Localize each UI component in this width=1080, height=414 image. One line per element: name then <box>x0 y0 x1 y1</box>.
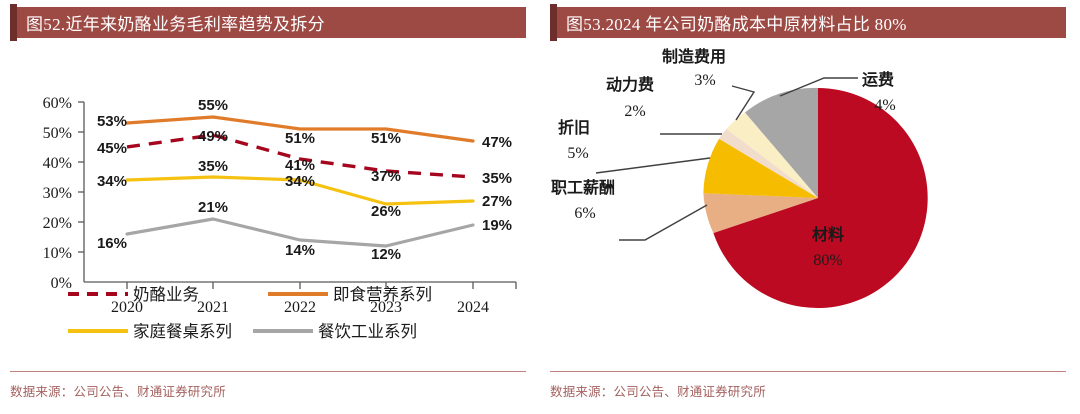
pie-label-freight-value: 4% <box>874 97 895 114</box>
left-source-note: 数据来源：公司公告、财通证券研究所 <box>10 381 526 400</box>
right-figure-panel: 图53.2024 年公司奶酪成本中原材料占比 80% <box>540 0 1080 414</box>
leader-line-employee-salary <box>619 205 707 240</box>
label-ready-2023: 51% <box>371 130 401 147</box>
x-tick-2022: 2022 <box>284 299 316 316</box>
line-chart-svg: 60% 50% 40% 30% 20% 10% 0% 2020 2021 202… <box>0 40 540 360</box>
label-ready-2020: 53% <box>97 113 127 130</box>
label-cheese-2021: 49% <box>198 128 228 145</box>
label-family-2022: 34% <box>285 173 315 190</box>
x-tick-2024: 2024 <box>457 299 489 316</box>
y-tick-40: 40% <box>43 155 72 172</box>
pie-chart-svg: 制造费用 3% 动力费 2% 折旧 5% 职工薪酬 6% 运费 4% 材料 80… <box>540 40 1080 360</box>
y-tick-20: 20% <box>43 215 72 232</box>
label-ready-2022: 51% <box>285 130 315 147</box>
cost-structure-pie-chart: 制造费用 3% 动力费 2% 折旧 5% 职工薪酬 6% 运费 4% 材料 80… <box>540 40 1080 360</box>
left-footer-divider <box>10 371 526 372</box>
right-panel-title: 图53.2024 年公司奶酪成本中原材料占比 80% <box>566 10 907 35</box>
x-tick-2021: 2021 <box>197 299 229 316</box>
label-family-2021: 35% <box>198 158 228 175</box>
pie-label-depreciation-name: 折旧 <box>558 118 590 137</box>
pie-label-power-cost-value: 2% <box>624 103 645 120</box>
label-catering-2023: 12% <box>371 246 401 263</box>
left-figure-panel: 图52.近年来奶酪业务毛利率趋势及拆分 <box>0 0 540 414</box>
pie-label-employee-salary-name: 职工薪酬 <box>551 179 615 197</box>
legend-label-cheese-business[interactable]: 奶酪业务 <box>133 285 199 304</box>
gross-margin-line-chart: 60% 50% 40% 30% 20% 10% 0% 2020 2021 202… <box>0 40 540 360</box>
y-tick-60: 60% <box>43 95 72 112</box>
pie-label-material-value: 80% <box>813 252 842 269</box>
y-axis-ticks <box>78 102 84 252</box>
label-ready-2021: 55% <box>198 97 228 114</box>
pie-label-manufacturing-cost-name: 制造费用 <box>662 47 726 66</box>
y-tick-50: 50% <box>43 125 72 142</box>
y-tick-0: 0% <box>51 275 72 292</box>
pie-label-employee-salary-value: 6% <box>574 205 595 222</box>
legend-label-family-table[interactable]: 家庭餐桌系列 <box>133 322 232 341</box>
label-ready-2024: 47% <box>482 134 512 151</box>
pie-label-depreciation-value: 5% <box>567 145 588 162</box>
label-family-2023: 26% <box>371 203 401 220</box>
right-footer-divider <box>550 371 1066 372</box>
left-panel-footer: 数据来源：公司公告、财通证券研究所 <box>10 371 526 400</box>
label-cheese-2024: 35% <box>482 170 512 187</box>
pie-label-material-name: 材料 <box>812 225 844 244</box>
left-panel-title: 图52.近年来奶酪业务毛利率趋势及拆分 <box>26 10 325 35</box>
pie-label-manufacturing-cost-value: 3% <box>694 72 715 89</box>
legend-label-ready-to-eat-nutrition[interactable]: 即食营养系列 <box>333 285 432 304</box>
label-family-2024: 27% <box>482 193 512 210</box>
pie-label-power-cost-name: 动力费 <box>606 75 654 94</box>
label-catering-2020: 16% <box>97 235 127 252</box>
label-catering-2022: 14% <box>285 242 315 259</box>
left-panel-title-bar: 图52.近年来奶酪业务毛利率趋势及拆分 <box>10 7 526 38</box>
label-catering-2024: 19% <box>482 217 512 234</box>
pie-label-freight-name: 运费 <box>862 70 894 89</box>
right-source-note: 数据来源：公司公告、财通证券研究所 <box>550 381 1066 400</box>
y-tick-30: 30% <box>43 185 72 202</box>
right-panel-footer: 数据来源：公司公告、财通证券研究所 <box>550 371 1066 400</box>
label-cheese-2023: 37% <box>371 168 401 185</box>
label-family-2020: 34% <box>97 173 127 190</box>
figure-pair-page: 图52.近年来奶酪业务毛利率趋势及拆分 <box>0 0 1080 414</box>
y-tick-10: 10% <box>43 245 72 262</box>
leader-line-depreciation <box>596 158 710 173</box>
right-panel-title-bar: 图53.2024 年公司奶酪成本中原材料占比 80% <box>550 7 1066 38</box>
label-cheese-2020: 45% <box>97 140 127 157</box>
legend-label-catering-industrial[interactable]: 餐饮工业系列 <box>318 322 417 341</box>
label-catering-2021: 21% <box>198 199 228 216</box>
label-cheese-2022: 41% <box>285 157 315 174</box>
